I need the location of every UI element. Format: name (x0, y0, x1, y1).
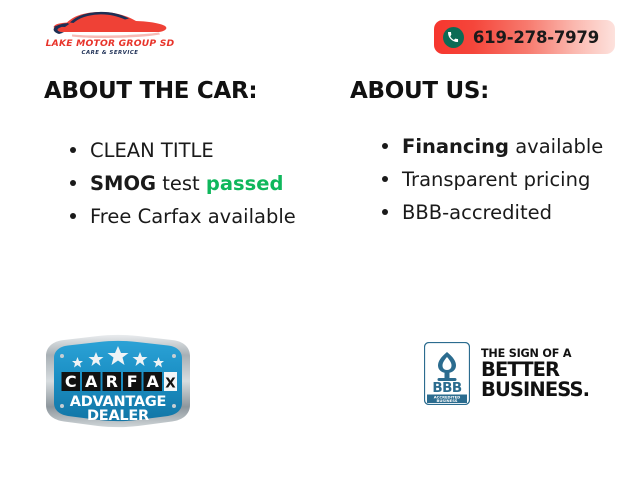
svg-text:A: A (147, 372, 160, 391)
about-us-heading: ABOUT US: (350, 78, 640, 104)
phone-number: 619-278-7979 (473, 28, 599, 47)
header-bar: LAKE MOTOR GROUP SD CARE & SERVICE 619-2… (0, 0, 640, 72)
about-us-list: Financing available Transparent pricing … (350, 130, 640, 229)
list-item-text: Transparent pricing (402, 168, 590, 191)
dealer-name: LAKE MOTOR GROUP SD (44, 38, 176, 49)
list-item-text: Free Carfax available (90, 205, 296, 228)
svg-text:R: R (106, 372, 118, 391)
svg-text:C: C (65, 372, 77, 391)
dealer-logo: LAKE MOTOR GROUP SD CARE & SERVICE (44, 10, 176, 62)
carfax-advantage-dealer-badge: C A R F A X ADVANTAGE DEALER (38, 330, 198, 432)
bbb-accredited-business-logo: BBB ACCREDITED BUSINESS THE SIGN OF A BE… (424, 342, 579, 408)
svg-text:BUSINESS: BUSINESS (437, 399, 458, 403)
about-the-car-section: ABOUT THE CAR: CLEAN TITLE SMOG test pas… (44, 78, 344, 233)
list-item: SMOG test passed (66, 167, 344, 200)
list-item: Transparent pricing (378, 163, 640, 196)
carfax-shield-icon: C A R F A X ADVANTAGE DEALER (38, 330, 198, 432)
list-item-text: passed (206, 172, 284, 195)
svg-text:BBB: BBB (432, 380, 462, 396)
list-item: BBB-accredited (378, 196, 640, 229)
phone-badge[interactable]: 619-278-7979 (434, 20, 615, 54)
list-item-text: SMOG (90, 172, 156, 195)
bbb-tagline-line3: BUSINESS. (481, 380, 589, 400)
svg-text:X: X (165, 376, 176, 392)
phone-icon (443, 27, 464, 48)
list-item-text: test (156, 172, 206, 195)
list-item: CLEAN TITLE (66, 134, 344, 167)
list-item-text: BBB-accredited (402, 201, 552, 224)
list-item-text: Financing (402, 135, 509, 158)
dealer-tagline: CARE & SERVICE (44, 50, 176, 56)
list-item: Free Carfax available (66, 200, 344, 233)
bbb-tagline-line2: BETTER (481, 360, 589, 380)
list-item: Financing available (378, 130, 640, 163)
bbb-tagline: THE SIGN OF A BETTER BUSINESS. (481, 342, 589, 400)
svg-text:DEALER: DEALER (87, 408, 149, 424)
svg-text:F: F (127, 372, 138, 391)
about-the-car-list: CLEAN TITLE SMOG test passed Free Carfax… (44, 134, 344, 233)
list-item-text: CLEAN TITLE (90, 139, 214, 162)
about-the-car-heading: ABOUT THE CAR: (44, 78, 344, 104)
bbb-seal-icon: BBB ACCREDITED BUSINESS (424, 342, 470, 405)
carfax-wordmark: C A R F A X (62, 372, 178, 392)
about-us-section: ABOUT US: Financing available Transparen… (350, 78, 640, 229)
car-silhouette-icon (52, 10, 170, 40)
list-item-text: available (509, 135, 603, 158)
svg-text:A: A (85, 372, 98, 391)
